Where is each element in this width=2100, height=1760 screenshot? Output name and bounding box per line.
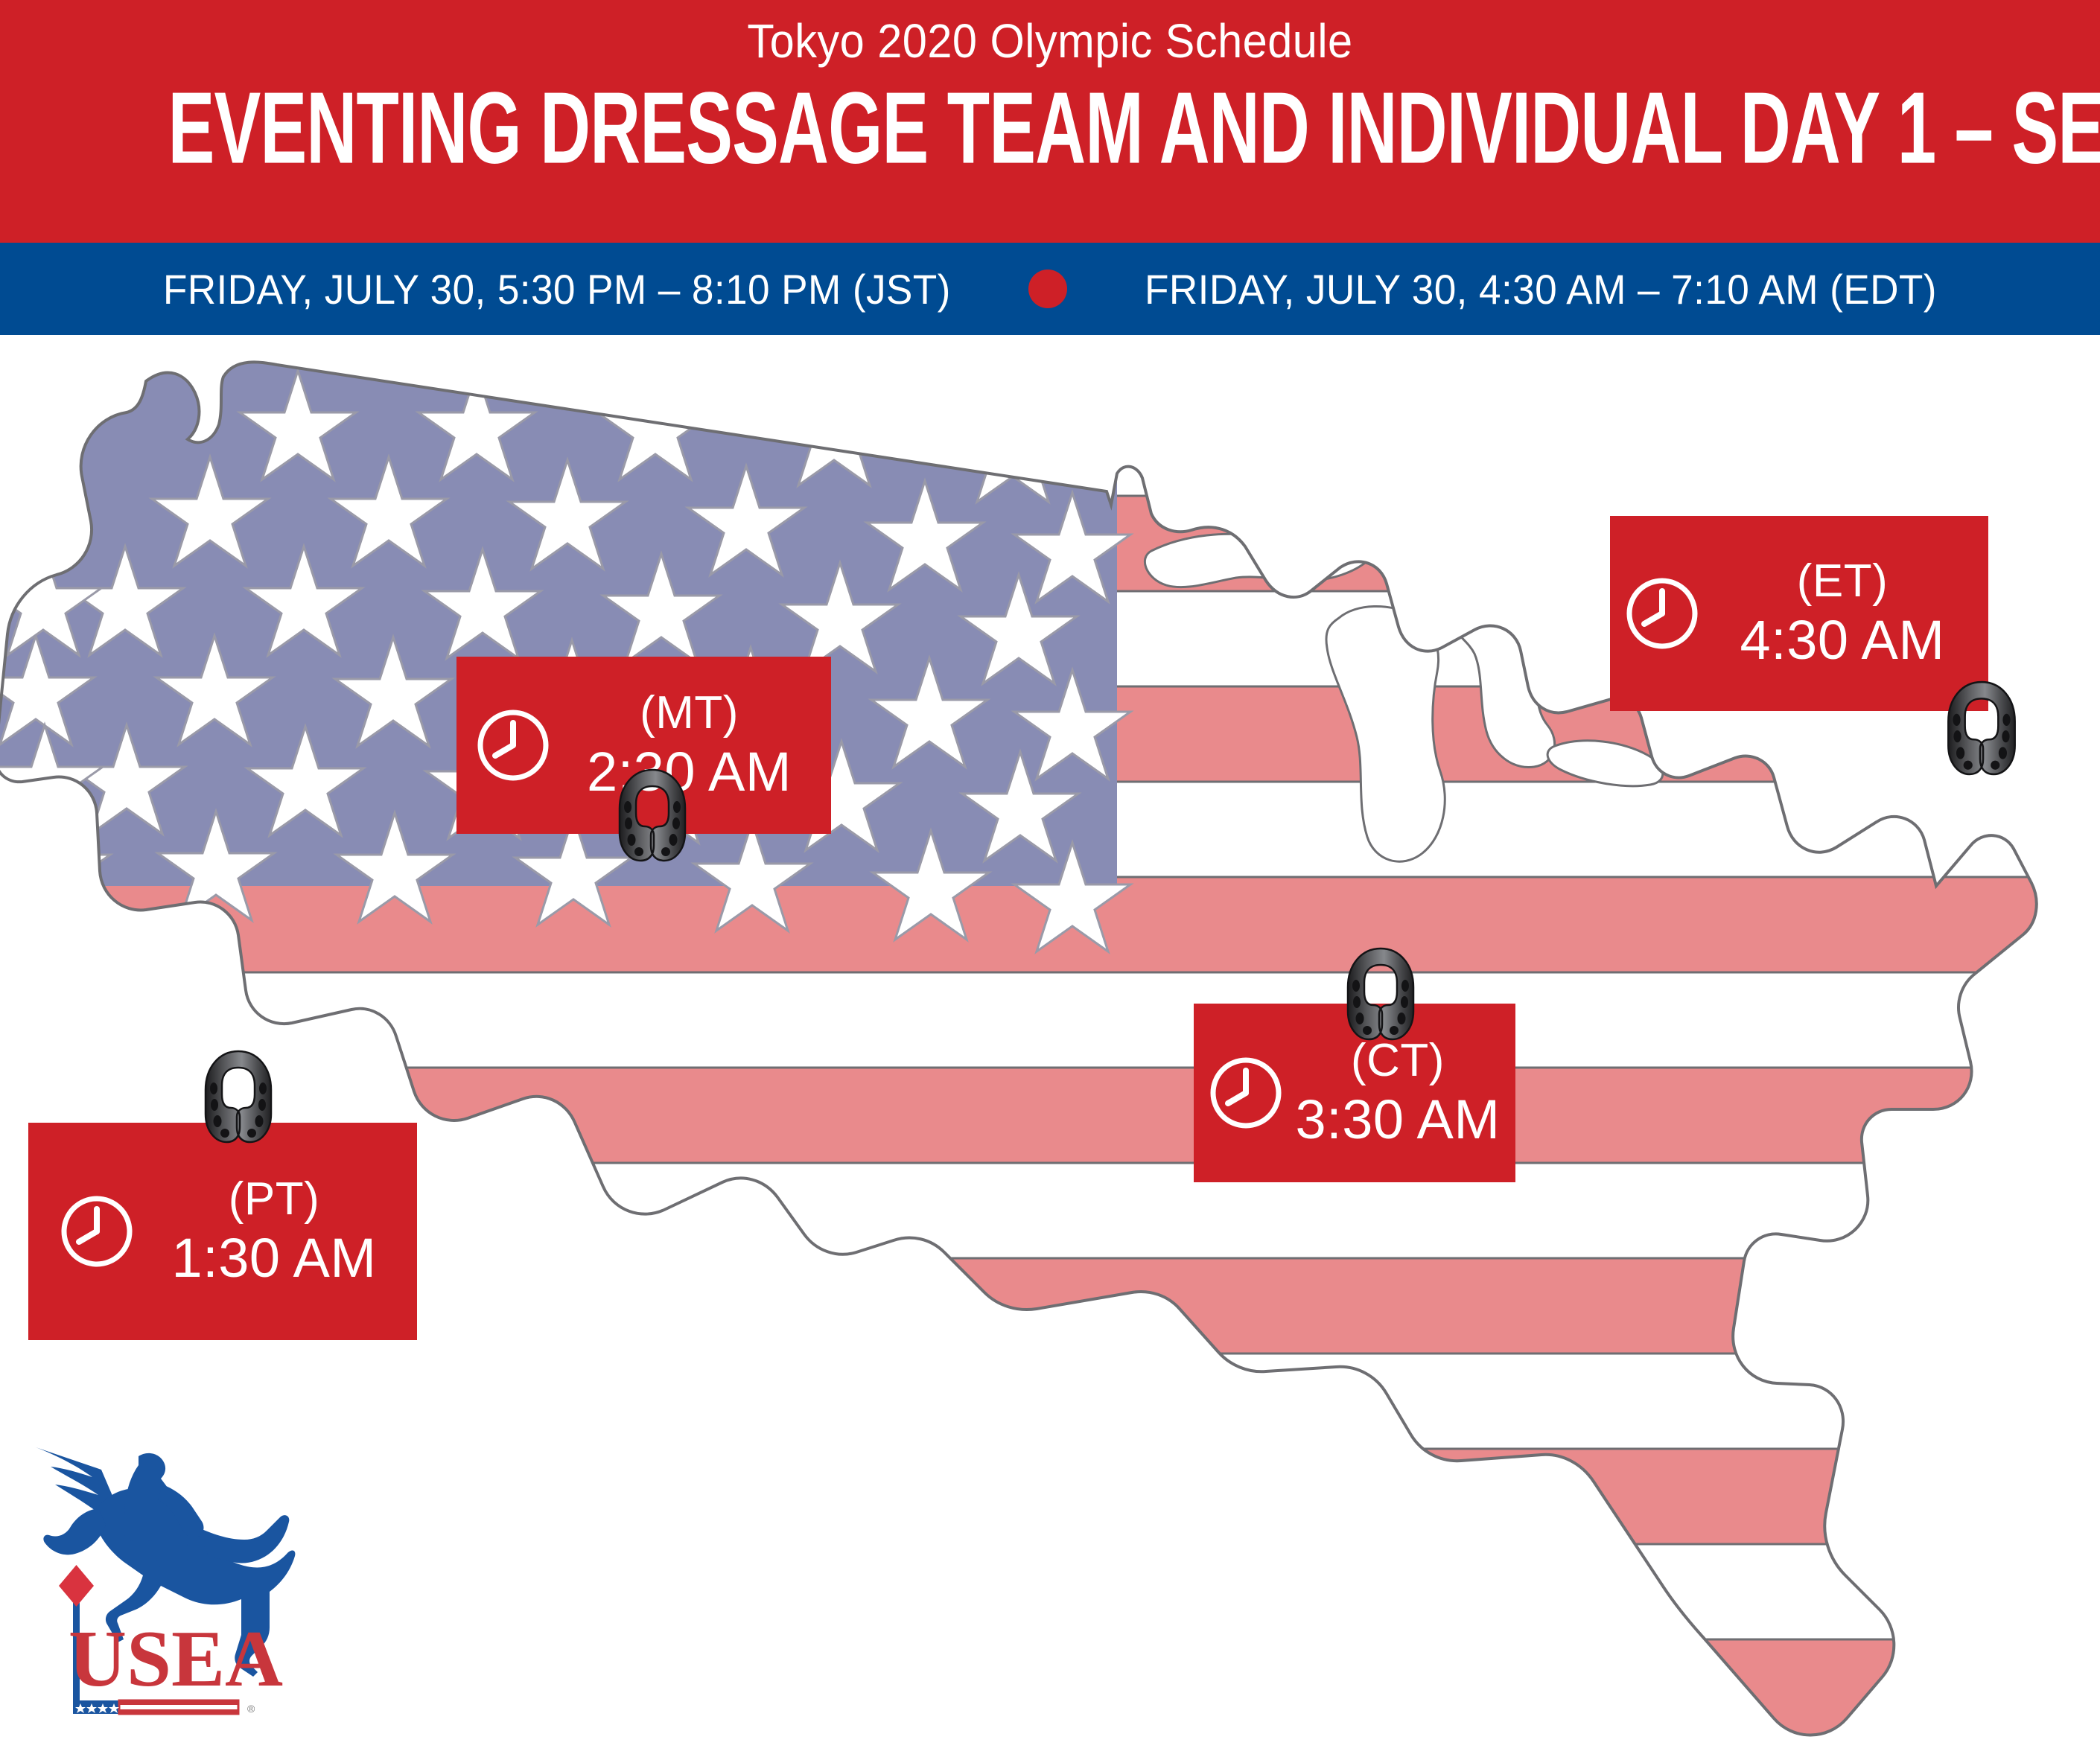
timezone-label: (CT) — [1285, 1034, 1511, 1088]
logo-diamond-icon — [59, 1565, 94, 1607]
page-title: EVENTING DRESSAGE TEAM AND INDIVIDUAL DA… — [168, 77, 1932, 179]
timezone-label: (MT) — [552, 686, 827, 740]
jst-time-text: FRIDAY, JULY 30, 5:30 PM – 8:10 PM (JST) — [163, 265, 951, 313]
time-card-pt[interactable]: (PT) 1:30 AM — [28, 1123, 417, 1340]
time-value: 1:30 AM — [136, 1226, 413, 1290]
header-banner: Tokyo 2020 Olympic Schedule EVENTING DRE… — [0, 0, 2100, 243]
time-card-text: (PT) 1:30 AM — [136, 1173, 417, 1290]
usea-logo[interactable]: USEA ® — [30, 1440, 298, 1738]
time-card-text: (CT) 3:30 AM — [1285, 1034, 1515, 1152]
poster-canvas: Tokyo 2020 Olympic Schedule EVENTING DRE… — [0, 0, 2100, 1760]
subheader-banner: FRIDAY, JULY 30, 5:30 PM – 8:10 PM (JST)… — [0, 243, 2100, 335]
time-card-text: (MT) 2:30 AM — [552, 686, 831, 804]
time-card-mt[interactable]: (MT) 2:30 AM — [456, 657, 831, 834]
usea-wordmark: USEA — [69, 1615, 283, 1703]
logo-flag-bar — [73, 1700, 246, 1714]
clock-icon — [58, 1193, 136, 1270]
time-value: 2:30 AM — [552, 740, 827, 804]
time-card-et[interactable]: (ET) 4:30 AM — [1610, 516, 1988, 711]
registered-mark: ® — [247, 1703, 255, 1715]
timezone-label: (PT) — [136, 1173, 413, 1226]
time-card-ct[interactable]: (CT) 3:30 AM — [1194, 1004, 1515, 1182]
map-area: (MT) 2:30 AM (ET) 4:30 AM — [0, 335, 2100, 1760]
eyebrow-text: Tokyo 2020 Olympic Schedule — [74, 13, 2027, 68]
clock-icon — [1623, 575, 1701, 652]
session-times-row: FRIDAY, JULY 30, 5:30 PM – 8:10 PM (JST)… — [0, 243, 2100, 335]
clock-icon — [474, 707, 552, 784]
clock-icon — [1207, 1054, 1285, 1132]
timezone-label: (ET) — [1701, 555, 1984, 608]
edt-time-text: FRIDAY, JULY 30, 4:30 AM – 7:10 AM (EDT) — [1145, 265, 1937, 313]
time-value: 3:30 AM — [1285, 1088, 1511, 1152]
red-dot-icon — [1028, 270, 1067, 308]
time-value: 4:30 AM — [1701, 608, 1984, 672]
time-card-text: (ET) 4:30 AM — [1701, 555, 1988, 672]
flag-canton — [0, 335, 1130, 951]
